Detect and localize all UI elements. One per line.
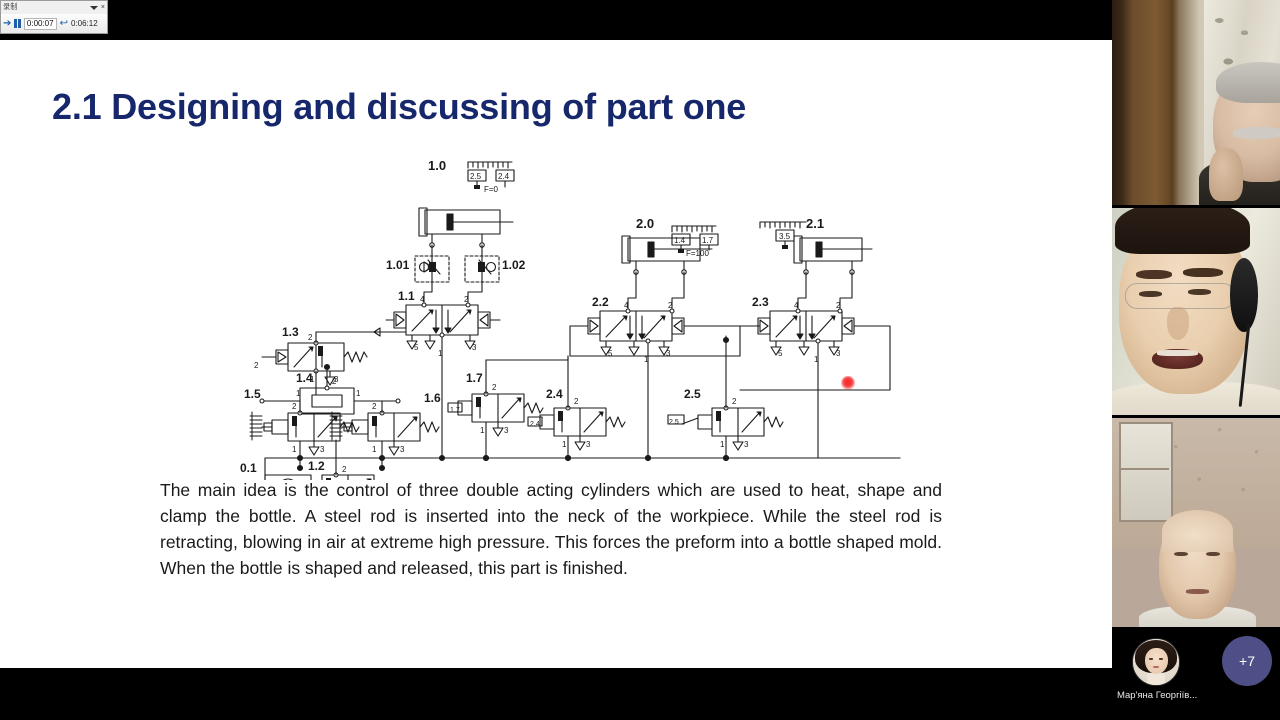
rewind-icon[interactable]: ↩: [60, 19, 68, 29]
label-sig-1-4: 1.4: [674, 236, 686, 245]
label-sig-2-5: 2.5: [470, 172, 482, 181]
red-pointer-dot: [841, 376, 855, 390]
participant-eye-right: [1188, 289, 1212, 295]
pilot-tag-2-5: 2.5: [669, 419, 679, 426]
participant-eyebrow-left: [1136, 270, 1173, 279]
port-2-2-2: 2: [668, 301, 673, 310]
flow-control-1-01: [415, 245, 449, 282]
page-title: 2.1 Designing and discussing of part one: [52, 86, 746, 128]
port-2-2-1: 1: [644, 355, 649, 364]
port-2-5-1: 1: [720, 440, 725, 449]
participant-head: [1162, 510, 1233, 552]
label-valve-1-1: 1.1: [398, 289, 415, 303]
window-frame: [1119, 422, 1173, 522]
caret-down-icon[interactable]: [90, 6, 98, 10]
circuit-svg: 1.0 2.5 2.4 F=0 1.01 1.02 1.1 4 2 5 1 3 …: [0, 150, 1112, 480]
label-cyl-1-0: 1.0: [428, 158, 446, 173]
avatar-face: [1145, 648, 1168, 674]
port-2-5-2: 2: [732, 397, 737, 406]
participant-mouth: [1186, 589, 1210, 593]
playbar-window-controls[interactable]: ×: [90, 4, 105, 11]
presentation-slide: 2.1 Designing and discussing of part one: [0, 40, 1112, 668]
playbar-titlebar: 录制 ×: [1, 1, 107, 14]
label-supply-0-1: 0.1: [240, 461, 257, 475]
valve-1-7: [448, 360, 543, 461]
signal-bus: [442, 356, 740, 458]
port-1-1-3: 3: [472, 343, 477, 352]
port-2-2-5: 5: [608, 349, 613, 358]
port-2-4-2: 2: [574, 397, 579, 406]
port-1-3-2: 2: [308, 333, 313, 342]
port-1-1-2: 2: [464, 295, 469, 304]
participant-hair: [1115, 208, 1249, 254]
participant-eye-left: [1174, 552, 1187, 557]
port-1-7-3: 3: [504, 426, 509, 435]
avatar-eye-left: [1149, 658, 1153, 660]
label-valve-1-2: 1.2: [308, 459, 325, 473]
port-2-3-5: 5: [778, 349, 783, 358]
window-mullion: [1119, 468, 1169, 470]
port-1-1-5: 5: [414, 343, 419, 352]
port-1-7-1: 1: [480, 426, 485, 435]
port-1-7-2: 2: [492, 383, 497, 392]
participant-video-rail: Мар'яна Георгіїв... +7: [1112, 0, 1280, 720]
valve-1-5: [250, 401, 359, 471]
label-fc-1-01: 1.01: [386, 258, 410, 272]
participant-video-1[interactable]: [1112, 0, 1280, 205]
port-2-5-3: 3: [744, 440, 749, 449]
label-valve-1-4: 1.4: [296, 371, 313, 385]
port-1-4-2: 2: [332, 377, 337, 386]
participant-eyebrow-right: [1183, 268, 1223, 277]
port-2-3-2: 2: [836, 301, 841, 310]
valve-1-6: [330, 401, 439, 471]
headset-earcup: [1230, 258, 1259, 333]
close-icon[interactable]: ×: [101, 4, 105, 11]
port-1-6-3: 3: [400, 445, 405, 454]
playbar-controls[interactable]: ➔ 0:00:07 ↩ 0:06:12: [1, 14, 107, 33]
label-fc-1-02: 1.02: [502, 258, 526, 272]
pneumatic-circuit-diagram: 1.0 2.5 2.4 F=0 1.01 1.02 1.1 4 2 5 1 3 …: [0, 150, 1112, 480]
port-1-4-1b: 1: [356, 389, 361, 398]
label-valve-1-7: 1.7: [466, 371, 483, 385]
participant-hand: [1209, 148, 1243, 201]
participant-moustache: [1233, 127, 1280, 139]
port-2-2-4: 4: [624, 301, 629, 310]
playbar-title: 录制: [3, 4, 18, 11]
port-1-3-in: 2: [254, 361, 259, 370]
participant-eye-right: [1206, 552, 1219, 557]
pilot-tag-2-4: 2.4: [530, 421, 540, 428]
valve-2-2: [570, 309, 760, 461]
label-valve-2-2: 2.2: [592, 295, 609, 309]
participant-video-3[interactable]: [1112, 418, 1280, 627]
recording-playback-toolbar[interactable]: 录制 × ➔ 0:00:07 ↩ 0:06:12: [0, 0, 108, 34]
participant-overflow-row: Мар'яна Георгіїв... +7: [1112, 630, 1280, 720]
label-sig-2-4: 2.4: [498, 172, 510, 181]
pilot-tag-1-7: 1.7: [450, 407, 460, 414]
port-2-4-3: 3: [586, 440, 591, 449]
port-2-3-4: 4: [794, 301, 799, 310]
label-valve-2-5: 2.5: [684, 387, 701, 401]
avatar-neck: [1147, 672, 1165, 686]
port-2-3-3: 3: [836, 349, 841, 358]
label-valve-2-4: 2.4: [546, 387, 563, 401]
port-1-6-2: 2: [372, 402, 377, 411]
label-force-2-0: F=100: [686, 249, 709, 258]
avatar-lips: [1153, 666, 1159, 668]
current-time-field[interactable]: 0:00:07: [24, 18, 57, 30]
port-2-3-1: 1: [814, 355, 819, 364]
screen-share-area: 录制 × ➔ 0:00:07 ↩ 0:06:12 2.1 Designing a…: [0, 0, 1112, 720]
port-1-1-1: 1: [438, 349, 443, 358]
label-sig-1-7: 1.7: [702, 236, 714, 245]
participant-video-2[interactable]: [1112, 208, 1280, 415]
label-sig-3-5: 3.5: [779, 232, 791, 241]
total-time-label: 0:06:12: [71, 20, 98, 28]
port-1-1-4: 4: [420, 295, 425, 304]
label-force-1-0: F=0: [484, 185, 499, 194]
flow-control-1-02: [465, 245, 499, 282]
meeting-screen: 录制 × ➔ 0:00:07 ↩ 0:06:12 2.1 Designing a…: [0, 0, 1280, 720]
label-valve-1-5: 1.5: [244, 387, 261, 401]
valve-1-1: [386, 303, 500, 400]
slide-body-text: The main idea is the control of three do…: [160, 478, 942, 582]
participant-eye-left: [1139, 291, 1163, 297]
label-cyl-2-0: 2.0: [636, 216, 654, 231]
port-1-4-1a: 1: [296, 389, 301, 398]
port-1-5-2: 2: [292, 402, 297, 411]
port-2-4-1: 1: [562, 440, 567, 449]
participant-teeth: [1157, 350, 1197, 356]
cylinder-2-1: [760, 222, 872, 308]
supply-bus: [265, 456, 900, 481]
participant-name-label: Мар'яна Георгіїв...: [1117, 690, 1217, 701]
more-participants-badge[interactable]: +7: [1222, 636, 1272, 686]
port-1-2-2: 2: [342, 465, 347, 474]
label-cyl-2-1: 2.1: [806, 216, 824, 231]
label-valve-2-3: 2.3: [752, 295, 769, 309]
port-1-5-1: 1: [292, 445, 297, 454]
port-1-5-3: 3: [320, 445, 325, 454]
pause-icon[interactable]: [14, 19, 21, 28]
label-valve-1-3: 1.3: [282, 325, 299, 339]
avatar[interactable]: [1132, 638, 1180, 686]
port-2-2-3: 3: [666, 349, 671, 358]
label-valve-1-6: 1.6: [424, 391, 441, 405]
arrow-right-icon[interactable]: ➔: [3, 19, 11, 29]
port-1-6-1: 1: [372, 445, 377, 454]
